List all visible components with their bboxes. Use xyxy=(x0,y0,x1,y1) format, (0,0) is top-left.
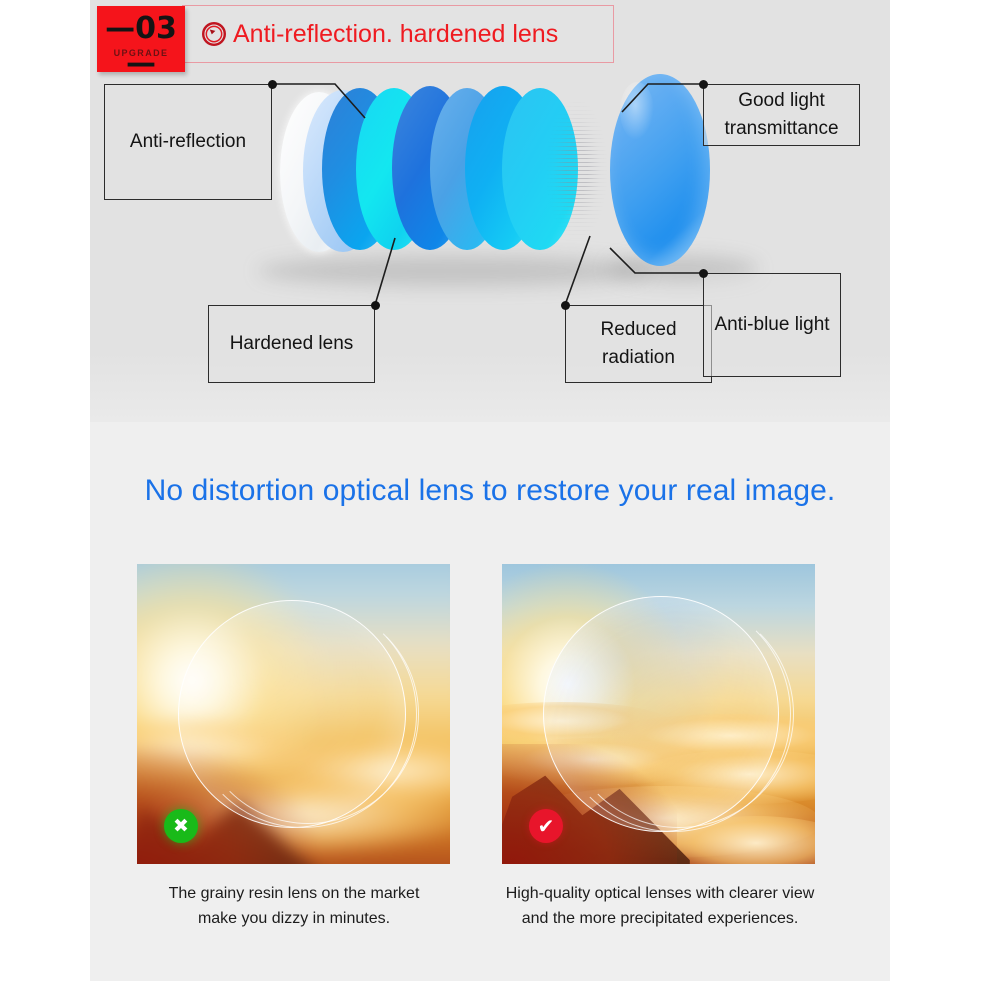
panel-good-photo: ✔ xyxy=(502,564,815,864)
badge-number-value: 03 xyxy=(135,11,177,46)
callout-good-light-transmittance: Good light transmittance xyxy=(703,84,860,146)
callout-good-light-line1: Good light xyxy=(738,87,825,115)
comparison-headline: No distortion optical lens to restore yo… xyxy=(90,474,890,508)
lens-stack-shadow xyxy=(258,256,648,286)
comparison-section: No distortion optical lens to restore yo… xyxy=(90,422,890,981)
seal-stamp-icon xyxy=(199,19,229,49)
callout-good-light-node xyxy=(699,80,708,89)
callout-hardened-lens-node xyxy=(371,301,380,310)
callout-hardened-lens-label: Hardened lens xyxy=(230,330,354,358)
badge-dash-left: — xyxy=(105,11,135,46)
panel-good-caption-line2: and the more precipitated experiences. xyxy=(490,907,830,932)
callout-anti-reflection-label: Anti-reflection xyxy=(130,128,246,156)
product-detail-page: —03— UPGRADE Anti-reflection. hardened l… xyxy=(0,0,981,981)
callout-anti-blue-light: Anti-blue light xyxy=(703,273,841,377)
lens-structure-section: —03— UPGRADE Anti-reflection. hardened l… xyxy=(90,0,890,422)
callout-anti-blue-light-label: Anti-blue light xyxy=(714,311,829,339)
callout-anti-reflection-node xyxy=(268,80,277,89)
callout-reduced-radiation: Reduced radiation xyxy=(565,305,712,383)
panel-good-caption-line1: High-quality optical lenses with clearer… xyxy=(490,882,830,907)
callout-hardened-lens: Hardened lens xyxy=(208,305,375,383)
callout-reduced-radiation-line1: Reduced xyxy=(600,316,676,344)
lens-layer-hatched-band xyxy=(546,98,608,242)
lens-edge-good-2 xyxy=(564,600,794,828)
callout-anti-reflection: Anti-reflection xyxy=(104,84,272,200)
panel-bad-photo: ✖ xyxy=(137,564,450,864)
section-title-bar: Anti-reflection. hardened lens xyxy=(182,5,614,63)
section-title-text: Anti-reflection. hardened lens xyxy=(233,20,558,49)
callout-anti-blue-light-node xyxy=(699,269,708,278)
panel-bad-caption: The grainy resin lens on the market make… xyxy=(124,882,464,932)
check-mark-icon: ✔ xyxy=(529,809,563,843)
cross-mark-icon: ✖ xyxy=(164,809,198,843)
panel-good-caption: High-quality optical lenses with clearer… xyxy=(490,882,830,932)
lens-edge-bad-2 xyxy=(197,604,419,824)
step-badge-number: —03— xyxy=(97,11,185,81)
callout-reduced-radiation-node xyxy=(561,301,570,310)
callout-good-light-line2: transmittance xyxy=(724,115,838,143)
panel-bad-caption-line1: The grainy resin lens on the market xyxy=(124,882,464,907)
callout-reduced-radiation-line2: radiation xyxy=(602,344,675,372)
panel-bad-caption-line2: make you dizzy in minutes. xyxy=(124,907,464,932)
finished-lens-highlight xyxy=(620,82,654,140)
step-badge: —03— UPGRADE xyxy=(97,6,185,72)
step-badge-sublabel: UPGRADE xyxy=(97,48,185,58)
